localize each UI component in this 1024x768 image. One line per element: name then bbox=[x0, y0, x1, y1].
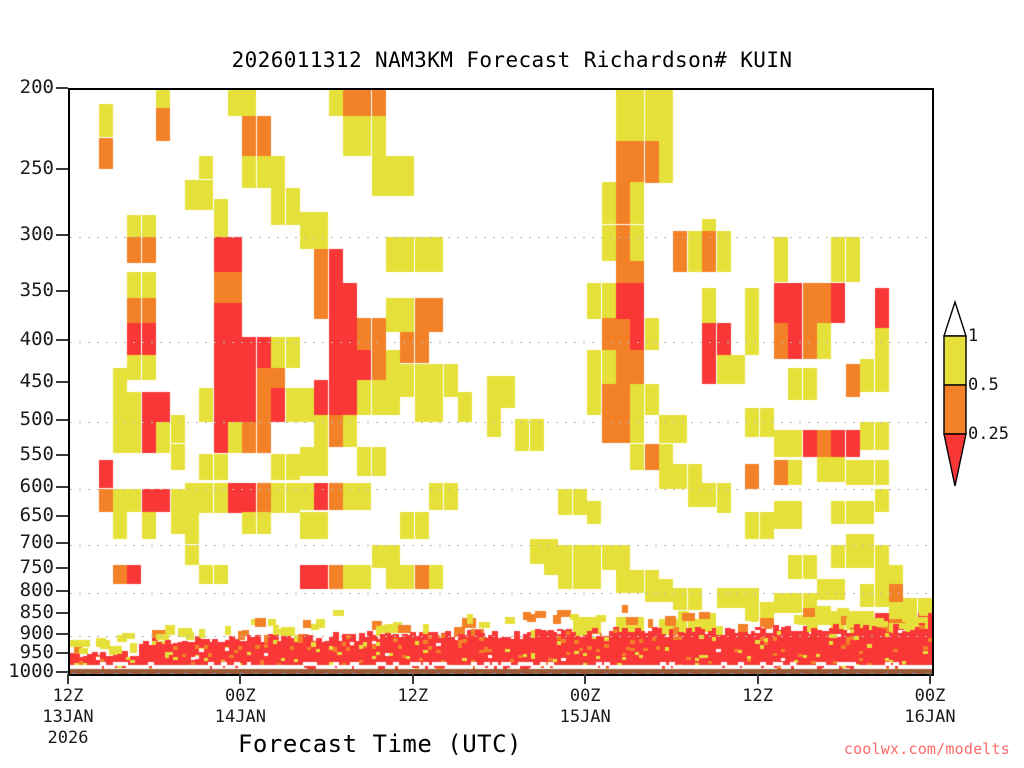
y-tick-label-300: 300 bbox=[0, 223, 54, 245]
y-tick-label-650: 650 bbox=[0, 504, 54, 526]
colorbar-arrow-down-red bbox=[944, 434, 966, 486]
y-tick-label-450: 450 bbox=[0, 370, 54, 392]
y-tick-label-250: 250 bbox=[0, 157, 54, 179]
x-label-time: 12Z bbox=[8, 686, 128, 707]
x-tick-label-1: 00Z14JAN bbox=[180, 686, 300, 728]
y-tick-label-1000: 1000 bbox=[0, 660, 54, 682]
y-tick-350 bbox=[56, 290, 68, 292]
x-label-time: 12Z bbox=[353, 686, 473, 707]
y-tick-1000 bbox=[56, 671, 68, 673]
x-label-time: 00Z bbox=[525, 686, 645, 707]
x-tick-label-5: 00Z16JAN bbox=[870, 686, 990, 728]
y-tick-900 bbox=[56, 633, 68, 635]
page-title: 2026011312 NAM3KM Forecast Richardson# K… bbox=[0, 48, 1024, 72]
colorbar-label-0-5: 0.5 bbox=[968, 375, 999, 395]
y-tick-label-600: 600 bbox=[0, 475, 54, 497]
y-tick-label-200: 200 bbox=[0, 76, 54, 98]
colorbar-svg bbox=[940, 300, 970, 488]
x-label-date: 14JAN bbox=[180, 707, 300, 728]
x-tick-1 bbox=[239, 674, 241, 684]
y-tick-750 bbox=[56, 567, 68, 569]
richardson-heatmap bbox=[70, 90, 932, 674]
y-tick-400 bbox=[56, 339, 68, 341]
y-tick-550 bbox=[56, 454, 68, 456]
y-tick-950 bbox=[56, 652, 68, 654]
y-tick-300 bbox=[56, 234, 68, 236]
footer-credit: coolwx.com/modelts bbox=[844, 740, 1010, 758]
y-tick-650 bbox=[56, 515, 68, 517]
x-tick-2 bbox=[412, 674, 414, 684]
x-axis-caption: Forecast Time (UTC) bbox=[0, 730, 760, 758]
chart-page: 2026011312 NAM3KM Forecast Richardson# K… bbox=[0, 0, 1024, 768]
x-label-time: 00Z bbox=[870, 686, 990, 707]
colorbar-arrow-up bbox=[944, 302, 966, 336]
y-tick-250 bbox=[56, 168, 68, 170]
y-tick-500 bbox=[56, 419, 68, 421]
x-label-date: 15JAN bbox=[525, 707, 645, 728]
x-label-time: 12Z bbox=[698, 686, 818, 707]
x-tick-4 bbox=[757, 674, 759, 684]
x-label-time: 00Z bbox=[180, 686, 300, 707]
x-tick-label-2: 12Z bbox=[353, 686, 473, 707]
x-tick-3 bbox=[584, 674, 586, 684]
colorbar-band-orange bbox=[944, 385, 966, 434]
y-tick-label-350: 350 bbox=[0, 279, 54, 301]
colorbar-band-yellow bbox=[944, 336, 966, 385]
y-tick-450 bbox=[56, 381, 68, 383]
y-tick-800 bbox=[56, 590, 68, 592]
y-tick-label-400: 400 bbox=[0, 328, 54, 350]
y-tick-label-750: 750 bbox=[0, 556, 54, 578]
y-tick-label-550: 550 bbox=[0, 443, 54, 465]
y-tick-700 bbox=[56, 542, 68, 544]
y-tick-200 bbox=[56, 87, 68, 89]
gridline-1000 bbox=[70, 674, 932, 675]
x-tick-5 bbox=[929, 674, 931, 684]
richardson-number-colorbar: 1 0.5 0.25 bbox=[940, 300, 970, 488]
plot-area bbox=[68, 88, 934, 676]
y-tick-850 bbox=[56, 612, 68, 614]
x-label-date: 13JAN bbox=[8, 707, 128, 728]
y-tick-label-500: 500 bbox=[0, 408, 54, 430]
colorbar-label-0-25: 0.25 bbox=[968, 424, 1009, 444]
x-tick-label-4: 12Z bbox=[698, 686, 818, 707]
y-tick-600 bbox=[56, 486, 68, 488]
x-tick-0 bbox=[67, 674, 69, 684]
y-tick-label-850: 850 bbox=[0, 601, 54, 623]
colorbar-label-1: 1 bbox=[968, 326, 978, 346]
x-tick-label-3: 00Z15JAN bbox=[525, 686, 645, 728]
y-tick-label-700: 700 bbox=[0, 531, 54, 553]
x-label-date: 16JAN bbox=[870, 707, 990, 728]
y-tick-label-800: 800 bbox=[0, 579, 54, 601]
